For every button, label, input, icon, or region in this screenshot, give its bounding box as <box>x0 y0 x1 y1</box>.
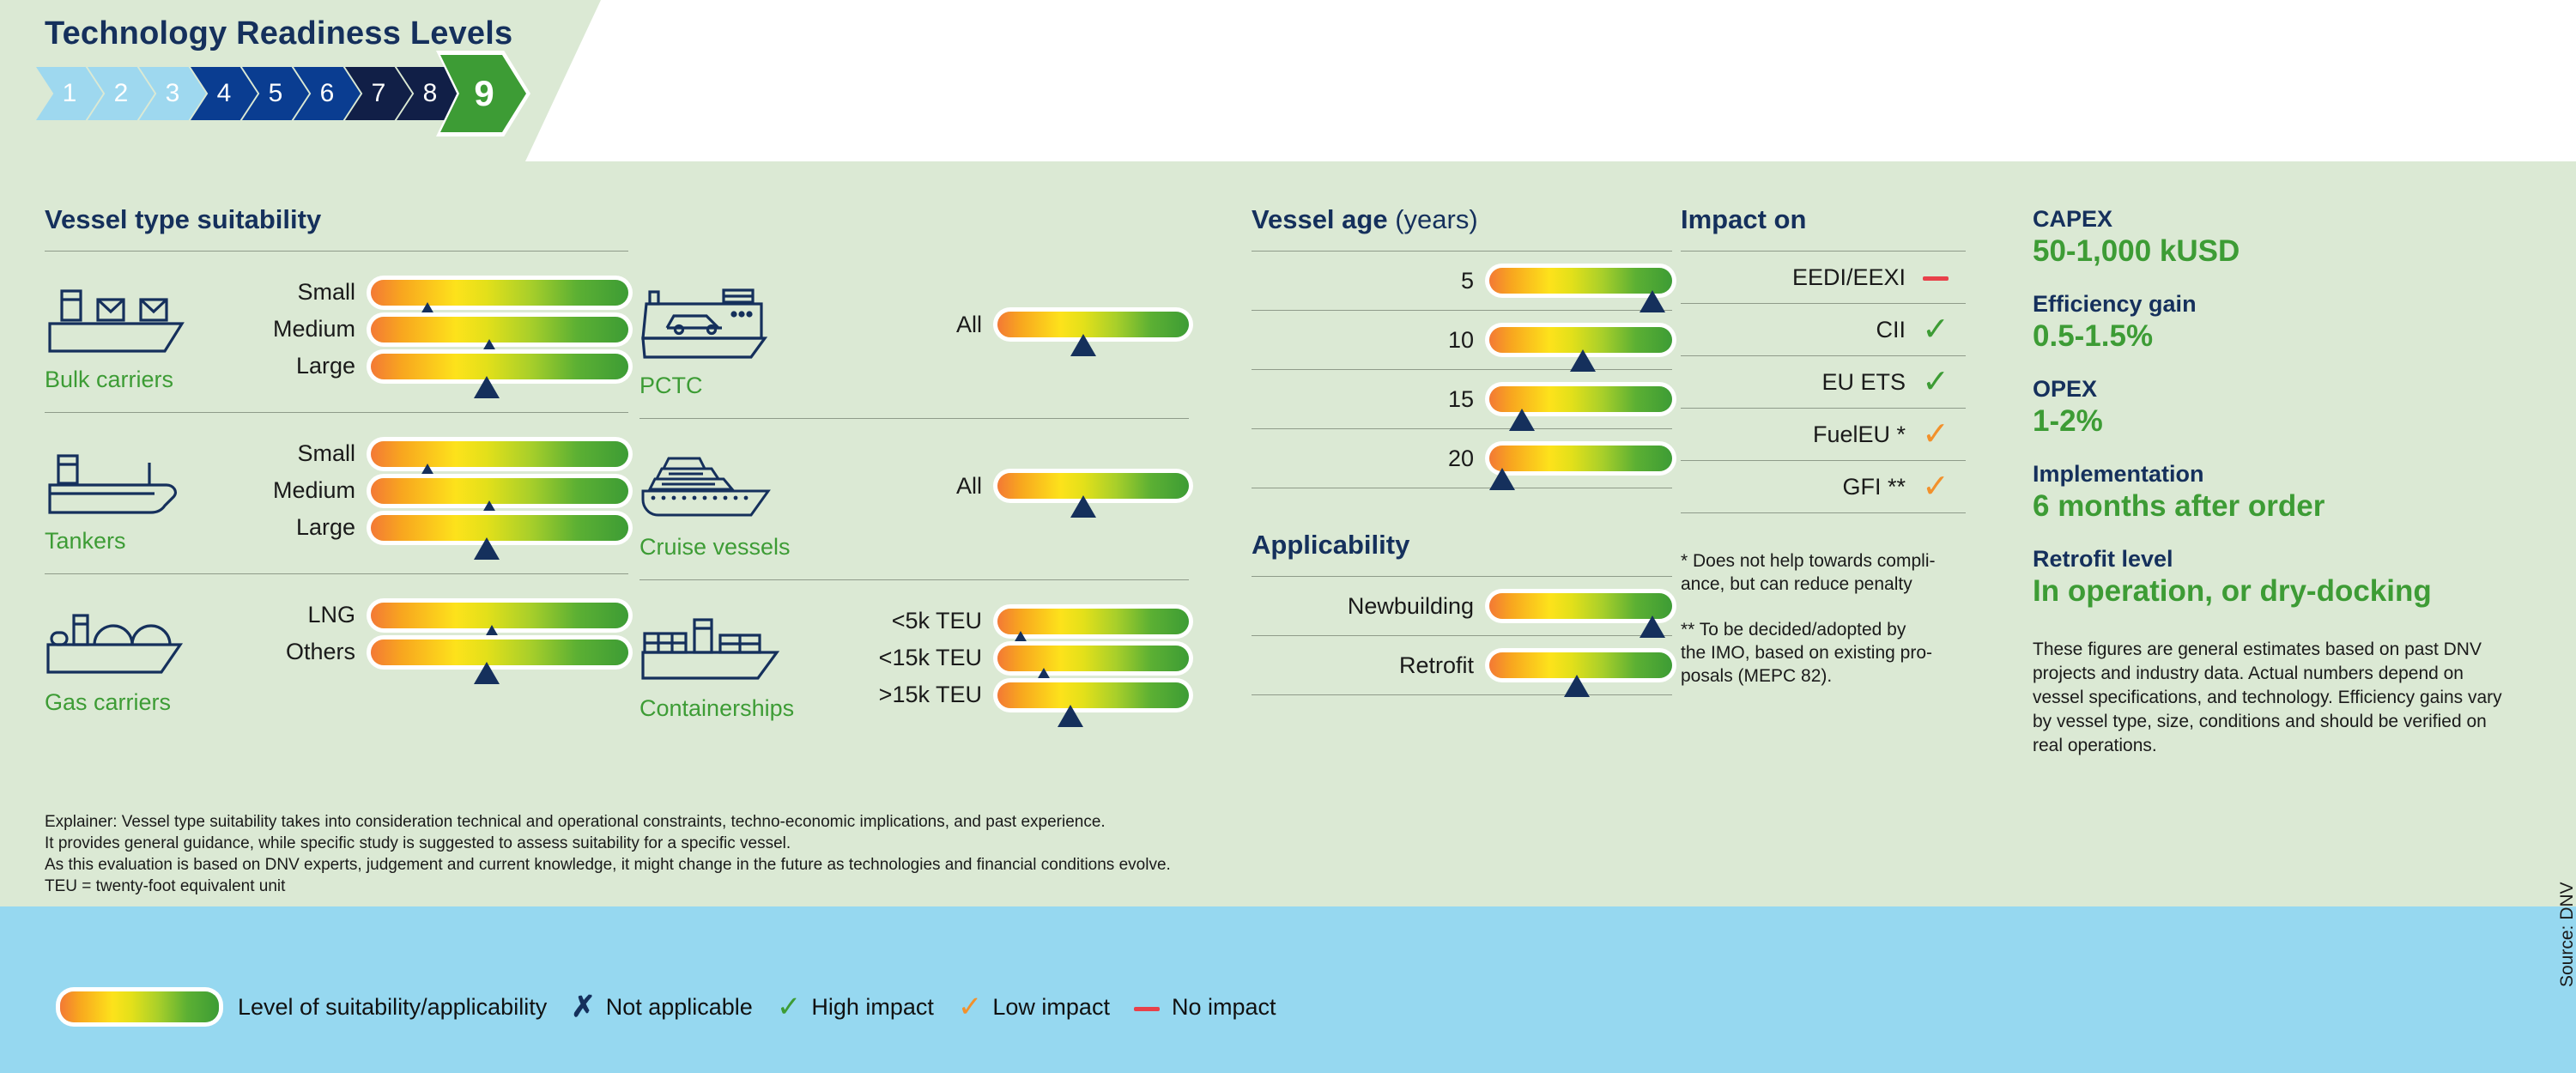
impact-label: GFI ** <box>1842 474 1906 500</box>
suitability-marker <box>1070 495 1096 518</box>
kpi-disclaimer: These figures are general estimates base… <box>2033 638 2548 758</box>
age-bar[interactable] <box>1489 446 1672 471</box>
suitability-row: LNG <box>208 602 628 628</box>
trl-chevron-label: 1 <box>63 79 77 108</box>
age-bar[interactable] <box>1489 386 1672 412</box>
row-label: <15k TEU <box>879 645 997 671</box>
disclaimer-line: projects and industry data. Actual numbe… <box>2033 662 2548 686</box>
row-label: Large <box>296 514 371 541</box>
kpi-key: Retrofit level <box>2033 546 2548 573</box>
impact-label: FuelEU * <box>1813 421 1906 448</box>
legend-low-impact-label: Low impact <box>992 994 1110 1021</box>
footnote-line: * Does not help towards compli- <box>1681 549 1966 573</box>
vessel-age-title-bold: Vessel age <box>1252 204 1388 234</box>
impact-row-eu-ets: EU ETS ✓ <box>1681 356 1966 408</box>
legend: Level of suitability/applicability ✗ Not… <box>60 991 1300 1022</box>
trl-chevron-label: 2 <box>114 79 129 108</box>
no-impact-icon <box>1906 261 1966 294</box>
footnote-line: the IMO, based on existing pro- <box>1681 641 1966 664</box>
cruise-vessel-icon <box>639 446 794 525</box>
trl-chevron-label: 9 <box>474 73 494 114</box>
row-label: Others <box>286 639 371 665</box>
impact-label: EU ETS <box>1821 369 1906 396</box>
vessel-group-label: PCTC <box>639 373 803 399</box>
suitability-row: Medium <box>208 316 628 343</box>
divider <box>639 418 1189 419</box>
vessel-age-title-regular: (years) <box>1395 204 1477 234</box>
vessel-group-gas-carriers: Gas carriers LNG Others <box>45 602 628 716</box>
suitability-marker <box>1058 705 1083 727</box>
suitability-bar[interactable] <box>997 682 1189 708</box>
tanker-icon-wrap: Tankers <box>45 440 208 555</box>
trl-chevron-9-active[interactable]: 9 <box>436 51 530 136</box>
kpi-efficiency-gain: Efficiency gain 0.5-1.5% <box>2033 291 2548 354</box>
high-impact-icon: ✓ <box>1906 313 1966 346</box>
applicability-row: Retrofit <box>1252 636 1672 694</box>
explainer-line: It provides general guidance, while spec… <box>45 833 1504 854</box>
divider <box>45 573 628 574</box>
explainer-line: TEU = twenty-foot equivalent unit <box>45 876 1504 897</box>
impact-label: EEDI/EEXI <box>1792 264 1906 291</box>
suitability-row: <5k TEU <box>803 608 1189 634</box>
tanker-icon <box>45 440 199 519</box>
pctc-icon <box>639 285 794 364</box>
row-label: Newbuilding <box>1348 593 1489 620</box>
high-impact-icon: ✓ <box>777 992 802 1021</box>
suitability-row: Medium <box>208 477 628 504</box>
trl-chevron-label: 6 <box>320 79 335 108</box>
kpi-retrofit-level: Retrofit level In operation, or dry-dock… <box>2033 546 2548 609</box>
suitability-bar[interactable] <box>997 312 1189 337</box>
impact-column: Impact on EEDI/EEXI CII ✓ EU ETS ✓ FuelE… <box>1681 204 1966 688</box>
kpi-value: 1-2% <box>2033 404 2548 439</box>
suitability-marker <box>474 376 500 398</box>
suitability-bar[interactable] <box>371 603 628 628</box>
legend-not-applicable-label: Not applicable <box>606 994 753 1021</box>
row-label: Medium <box>273 316 371 343</box>
vessel-age-title: Vessel age (years) <box>1252 204 1672 235</box>
kpi-implementation: Implementation 6 months after order <box>2033 461 2548 524</box>
vessel-group-bulk-carriers: Bulk carriers Small Medium Large <box>45 279 628 393</box>
age-marker <box>1489 468 1515 490</box>
impact-row-cii: CII ✓ <box>1681 304 1966 355</box>
suitability-bar[interactable] <box>371 515 628 541</box>
low-impact-icon: ✓ <box>958 992 983 1021</box>
divider <box>639 579 1189 580</box>
vessel-group-pctc: PCTC All <box>639 285 1189 399</box>
suitability-bar[interactable] <box>371 441 628 467</box>
vessel-group-label: Cruise vessels <box>639 534 803 561</box>
suitability-bar[interactable] <box>371 640 628 665</box>
disclaimer-line: by vessel type, size, conditions and sho… <box>2033 710 2548 734</box>
suitability-bar[interactable] <box>371 280 628 306</box>
vessel-suitability-title: Vessel type suitability <box>45 204 628 235</box>
applicability-bar[interactable] <box>1489 593 1672 619</box>
trl-chevron-label: 7 <box>372 79 386 108</box>
divider <box>45 412 628 413</box>
suitability-row: Small <box>208 279 628 306</box>
vessel-group-cruise: Cruise vessels All <box>639 446 1189 561</box>
row-label: Retrofit <box>1399 652 1489 679</box>
suitability-marker <box>1070 334 1096 356</box>
suitability-marker <box>474 662 500 684</box>
kpi-opex: OPEX 1-2% <box>2033 376 2548 439</box>
explainer-line: Explainer: Vessel type suitability takes… <box>45 811 1504 833</box>
low-impact-icon: ✓ <box>1906 418 1966 451</box>
age-bar[interactable] <box>1489 327 1672 353</box>
impact-row-fueleu: FuelEU * ✓ <box>1681 409 1966 460</box>
page-title: Technology Readiness Levels <box>45 15 512 52</box>
suitability-row: All <box>803 446 1189 525</box>
gas-carrier-icon <box>45 602 199 681</box>
kpi-key: OPEX <box>2033 376 2548 403</box>
vessel-group-label: Tankers <box>45 528 208 555</box>
vessel-suitability-column: Vessel type suitability Bulk carriers <box>45 204 628 716</box>
divider <box>1252 488 1672 488</box>
applicability-marker <box>1640 615 1665 638</box>
vessel-group-label: Containerships <box>639 695 803 722</box>
disclaimer-line: real operations. <box>2033 734 2548 758</box>
divider <box>45 251 628 252</box>
kpi-column: CAPEX 50-1,000 kUSD Efficiency gain 0.5-… <box>2033 206 2548 758</box>
row-label: 15 <box>1448 386 1489 413</box>
divider <box>1252 694 1672 695</box>
row-label: >15k TEU <box>879 682 997 708</box>
impact-title: Impact on <box>1681 204 1966 235</box>
row-label: 20 <box>1448 446 1489 472</box>
row-label: LNG <box>307 602 371 628</box>
legend-high-impact-label: High impact <box>811 994 934 1021</box>
trl-scale: 1 2 3 4 5 6 7 8 9 <box>36 67 530 120</box>
kpi-key: CAPEX <box>2033 206 2548 233</box>
trl-chevron-label: 4 <box>217 79 232 108</box>
row-label: 5 <box>1461 268 1489 294</box>
footnote-line: ** To be decided/adopted by <box>1681 618 1966 641</box>
suitability-bar[interactable] <box>371 478 628 504</box>
suitability-row: Small <box>208 440 628 467</box>
impact-row-eedi: EEDI/EEXI <box>1681 252 1966 303</box>
suitability-row: All <box>803 285 1189 364</box>
wave-divider <box>0 900 2576 934</box>
age-bar[interactable] <box>1489 268 1672 294</box>
suitability-row: Others <box>208 639 628 665</box>
vessel-suitability-column-2: PCTC All <box>639 258 1189 722</box>
row-label: All <box>956 312 997 338</box>
kpi-key: Implementation <box>2033 461 2548 488</box>
legend-gradient-bar <box>60 991 219 1022</box>
disclaimer-line: vessel specifications, and technology. E… <box>2033 686 2548 710</box>
disclaimer-line: These figures are general estimates base… <box>2033 638 2548 662</box>
containership-icon <box>639 608 794 687</box>
footnote-line: posals (MEPC 82). <box>1681 664 1966 688</box>
row-label: Medium <box>273 477 371 504</box>
trl-chevron-label: 8 <box>423 79 438 108</box>
applicability-marker <box>1564 675 1590 697</box>
vessel-group-containerships: Containerships <5k TEU <15k TEU >15k TEU <box>639 608 1189 722</box>
row-label: Small <box>297 279 371 306</box>
impact-label: CII <box>1876 317 1906 343</box>
suitability-bar[interactable] <box>997 473 1189 499</box>
cruise-icon-wrap: Cruise vessels <box>639 446 803 561</box>
bulk-carrier-icon <box>45 279 199 358</box>
suitability-bar[interactable] <box>997 609 1189 634</box>
suitability-bar[interactable] <box>997 646 1189 671</box>
explainer-text: Explainer: Vessel type suitability takes… <box>45 811 1504 897</box>
vessel-rows: All <box>803 285 1189 364</box>
suitability-row: Large <box>208 353 628 379</box>
impact-row-gfi: GFI ** ✓ <box>1681 461 1966 512</box>
suitability-row: >15k TEU <box>803 682 1189 708</box>
vessel-rows: Small Medium Large <box>208 279 628 379</box>
row-label: All <box>956 473 997 500</box>
age-row: 10 <box>1252 311 1672 369</box>
kpi-capex: CAPEX 50-1,000 kUSD <box>2033 206 2548 269</box>
trl-chevron-label: 5 <box>269 79 283 108</box>
age-row: 20 <box>1252 429 1672 488</box>
impact-footnote-1: * Does not help towards compli- ance, bu… <box>1681 549 1966 596</box>
row-label: Large <box>296 353 371 379</box>
age-marker <box>1509 409 1535 431</box>
gas-carrier-icon-wrap: Gas carriers <box>45 602 208 716</box>
row-label: Small <box>297 440 371 467</box>
high-impact-icon: ✓ <box>1906 366 1966 398</box>
vessel-rows: Small Medium Large <box>208 440 628 541</box>
age-row: 5 <box>1252 252 1672 310</box>
trl-chevron-label: 3 <box>166 79 180 108</box>
vessel-group-tankers: Tankers Small Medium Large <box>45 440 628 555</box>
divider <box>1681 512 1966 513</box>
vessel-group-label: Bulk carriers <box>45 367 208 393</box>
suitability-bar[interactable] <box>371 317 628 343</box>
legend-no-impact-label: No impact <box>1172 994 1276 1021</box>
kpi-value: 50-1,000 kUSD <box>2033 234 2548 269</box>
age-marker <box>1570 349 1596 372</box>
age-marker <box>1640 290 1665 312</box>
suitability-bar[interactable] <box>371 354 628 379</box>
suitability-row: Large <box>208 514 628 541</box>
not-applicable-icon: ✗ <box>571 992 596 1021</box>
vessel-group-label: Gas carriers <box>45 689 208 716</box>
suitability-row: <15k TEU <box>803 645 1189 671</box>
suitability-marker <box>474 537 500 560</box>
footnote-line: ance, but can reduce penalty <box>1681 573 1966 596</box>
containership-icon-wrap: Containerships <box>639 608 803 722</box>
vessel-rows: <5k TEU <15k TEU >15k TEU <box>803 608 1189 708</box>
row-label: 10 <box>1448 327 1489 354</box>
vessel-rows: LNG Others <box>208 602 628 665</box>
vessel-rows: All <box>803 446 1189 525</box>
impact-footnote-2: ** To be decided/adopted by the IMO, bas… <box>1681 618 1966 688</box>
kpi-value: 6 months after order <box>2033 489 2548 524</box>
source-label: Source: DNV <box>2557 882 2576 987</box>
pctc-icon-wrap: PCTC <box>639 285 803 399</box>
legend-gradient-label: Level of suitability/applicability <box>238 994 547 1021</box>
source-credit: Source: DNV <box>2538 858 2564 1030</box>
row-label: <5k TEU <box>892 608 997 634</box>
low-impact-icon: ✓ <box>1906 470 1966 503</box>
no-impact-icon <box>1134 992 1160 1021</box>
vessel-age-column: Vessel age (years) 5 10 15 20 <box>1252 204 1672 695</box>
age-row: 15 <box>1252 370 1672 428</box>
applicability-title: Applicability <box>1252 530 1672 561</box>
kpi-value: 0.5-1.5% <box>2033 319 2548 354</box>
applicability-row: Newbuilding <box>1252 577 1672 635</box>
applicability-bar[interactable] <box>1489 652 1672 678</box>
kpi-key: Efficiency gain <box>2033 291 2548 318</box>
explainer-line: As this evaluation is based on DNV exper… <box>45 854 1504 876</box>
kpi-value: In operation, or dry-docking <box>2033 574 2548 609</box>
bulk-carrier-icon-wrap: Bulk carriers <box>45 279 208 393</box>
